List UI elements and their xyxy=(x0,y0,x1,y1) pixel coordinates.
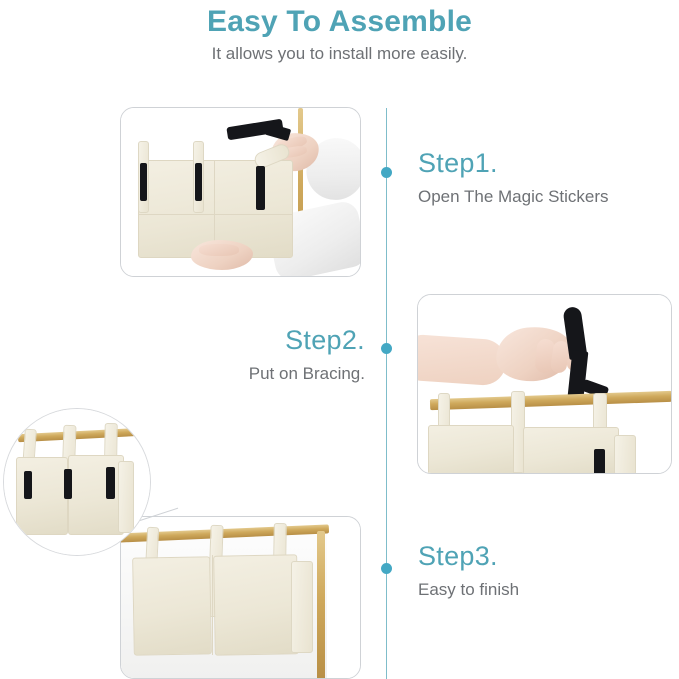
zoom-detail-callout xyxy=(3,408,151,556)
step-2-description: Put on Bracing. xyxy=(110,361,365,387)
photo-panel-step-1 xyxy=(120,107,361,277)
step-2-text-block: Step2. Put on Bracing. xyxy=(110,323,365,387)
step-3-title: Step3. xyxy=(418,539,673,573)
caddy-side-panel xyxy=(118,461,134,533)
page-title: Easy To Assemble xyxy=(0,5,679,39)
caddy-pocket-right xyxy=(213,554,299,655)
header: Easy To Assemble It allows you to instal… xyxy=(0,0,679,67)
velcro-patch-left xyxy=(24,471,32,499)
caddy-pocket-right xyxy=(68,455,124,535)
photo-open-magic-stickers xyxy=(121,108,360,276)
caddy-side-panel xyxy=(614,435,636,474)
timeline-line xyxy=(386,108,387,679)
step-1-title: Step1. xyxy=(418,146,676,180)
infographic-stage: Easy To Assemble It allows you to instal… xyxy=(0,0,679,679)
photo-easy-to-finish xyxy=(121,517,360,678)
velcro-patch-right xyxy=(594,449,605,474)
step-3-description: Easy to finish xyxy=(418,577,673,603)
forearm xyxy=(417,333,507,386)
timeline-dot-step3 xyxy=(381,563,392,574)
step-3-text-block: Step3. Easy to finish xyxy=(418,539,673,603)
photo-panel-step-3 xyxy=(120,516,361,679)
step-2-title: Step2. xyxy=(110,323,365,357)
page-subtitle: It allows you to install more easily. xyxy=(0,41,679,67)
caddy-pocket-left xyxy=(132,556,212,655)
caddy-pocket-left xyxy=(428,425,514,474)
velcro-patch-middle xyxy=(195,163,202,201)
step-1-description: Open The Magic Stickers xyxy=(418,184,676,210)
velcro-patch-left xyxy=(140,163,147,201)
callout-photo xyxy=(4,409,150,555)
velcro-patch-right xyxy=(106,467,115,499)
finger xyxy=(199,244,239,256)
caddy-pocket-seam xyxy=(138,214,293,215)
wood-rail xyxy=(18,428,142,442)
wood-post-right xyxy=(317,531,325,679)
wood-rail xyxy=(430,391,672,410)
velcro-patch-right xyxy=(256,166,265,210)
velcro-strip-tail xyxy=(265,123,291,141)
caddy-center-seam xyxy=(212,555,213,655)
step-1-text-block: Step1. Open The Magic Stickers xyxy=(418,146,676,210)
timeline-dot-step1 xyxy=(381,167,392,178)
photo-put-on-bracing xyxy=(418,295,671,473)
photo-panel-step-2 xyxy=(417,294,672,474)
timeline-dot-step2 xyxy=(381,343,392,354)
velcro-patch-middle xyxy=(64,469,72,499)
caddy-side-panel xyxy=(291,561,313,653)
